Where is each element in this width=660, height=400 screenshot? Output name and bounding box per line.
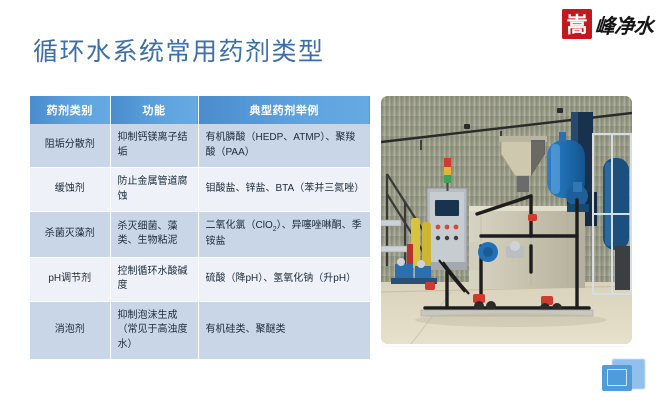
cell-category: pH调节剂	[30, 257, 110, 301]
equipment-photo	[381, 96, 632, 344]
cell-examples: 有机硅类、聚醚类	[198, 301, 370, 359]
column-header-category: 药剂类别	[30, 96, 110, 124]
column-header-function: 功能	[110, 96, 198, 124]
logo-wordmark: 峰净水	[594, 10, 655, 39]
cell-category: 阻垢分散剂	[30, 124, 110, 168]
cell-examples: 二氧化氯（ClO2）、异噻唑啉酮、季铵盐	[198, 212, 370, 258]
table-row: 阻垢分散剂 抑制钙镁离子结垢 有机膦酸（HEDP、ATMP）、聚羧酸（PAA）	[30, 124, 370, 168]
cell-function: 防止金属管道腐蚀	[110, 168, 198, 212]
cell-function: 控制循环水酸碱度	[110, 257, 198, 301]
table-header-row: 药剂类别 功能 典型药剂举例	[30, 96, 370, 124]
table-row: pH调节剂 控制循环水酸碱度 硫酸（降pH）、氢氧化钠（升pH）	[30, 257, 370, 301]
cell-examples: 钼酸盐、锌盐、BTA（苯并三氮唑）	[198, 168, 370, 212]
table-row: 消泡剂 抑制泡沫生成（常见于高浊度水） 有机硅类、聚醚类	[30, 301, 370, 359]
table-row: 杀菌灭藻剂 杀灭细菌、藻类、生物粘泥 二氧化氯（ClO2）、异噻唑啉酮、季铵盐	[30, 212, 370, 258]
chemical-types-table-wrapper: 药剂类别 功能 典型药剂举例 阻垢分散剂 抑制钙镁离子结垢 有机膦酸（HEDP、…	[30, 96, 370, 359]
cell-category: 杀菌灭藻剂	[30, 212, 110, 258]
cell-category: 消泡剂	[30, 301, 110, 359]
logo-seal-icon: 嵩	[562, 9, 592, 39]
examples-prefix: 二氧化氯（ClO	[206, 220, 273, 231]
equipment-photo-illustration	[381, 96, 632, 344]
cell-function: 杀灭细菌、藻类、生物粘泥	[110, 212, 198, 258]
slide: 嵩 峰净水 循环水系统常用药剂类型 药剂类别 功能 典型药剂举例 阻垢分散剂 抑…	[0, 0, 660, 400]
cell-category: 缓蚀剂	[30, 168, 110, 212]
table-body: 阻垢分散剂 抑制钙镁离子结垢 有机膦酸（HEDP、ATMP）、聚羧酸（PAA） …	[30, 124, 370, 359]
cell-examples: 硫酸（降pH）、氢氧化钠（升pH）	[198, 257, 370, 301]
decorative-squares-icon	[600, 357, 648, 393]
table-header: 药剂类别 功能 典型药剂举例	[30, 96, 370, 124]
chemical-types-table: 药剂类别 功能 典型药剂举例 阻垢分散剂 抑制钙镁离子结垢 有机膦酸（HEDP、…	[30, 96, 370, 359]
cell-examples: 有机膦酸（HEDP、ATMP）、聚羧酸（PAA）	[198, 124, 370, 168]
cell-function: 抑制泡沫生成（常见于高浊度水）	[110, 301, 198, 359]
column-header-examples: 典型药剂举例	[198, 96, 370, 124]
company-logo: 嵩 峰净水	[562, 6, 656, 42]
page-title: 循环水系统常用药剂类型	[33, 32, 325, 68]
table-row: 缓蚀剂 防止金属管道腐蚀 钼酸盐、锌盐、BTA（苯并三氮唑）	[30, 168, 370, 212]
decorative-square-front	[602, 365, 632, 391]
cell-function: 抑制钙镁离子结垢	[110, 124, 198, 168]
